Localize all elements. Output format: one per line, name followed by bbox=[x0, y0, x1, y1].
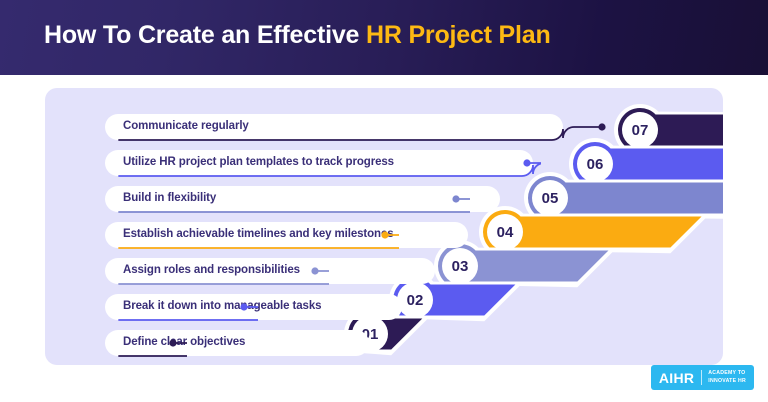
connector-dot bbox=[169, 339, 176, 346]
logo-wordmark: AIHR bbox=[659, 371, 701, 385]
page-title: How To Create an Effective HR Project Pl… bbox=[44, 21, 551, 50]
step-connector bbox=[105, 186, 470, 220]
step-row: Communicate regularly bbox=[105, 114, 723, 140]
logo-tagline-line1: ACADEMY TO bbox=[708, 370, 746, 377]
step-connector bbox=[105, 222, 399, 256]
connector-dot bbox=[452, 195, 459, 202]
page-title-accent: HR Project Plan bbox=[366, 21, 551, 49]
content-panel: 07060504030201 Communicate regularlyUtil… bbox=[45, 88, 723, 365]
step-row: Build in flexibility bbox=[105, 186, 723, 212]
step-connector bbox=[105, 330, 187, 364]
connector-dot bbox=[523, 159, 530, 166]
step-row: Break it down into manageable tasks bbox=[105, 294, 723, 320]
step-row: Define clear objectives bbox=[105, 330, 723, 356]
logo-tagline-line2: INNOVATE HR bbox=[708, 378, 746, 385]
connector-dot bbox=[240, 303, 247, 310]
step-row: Assign roles and responsibilities bbox=[105, 258, 723, 284]
aihr-logo: AIHR ACADEMY TO INNOVATE HR bbox=[651, 365, 754, 390]
logo-tagline: ACADEMY TO INNOVATE HR bbox=[702, 370, 746, 384]
step-connector bbox=[105, 294, 258, 328]
connector-dot bbox=[311, 267, 318, 274]
infographic-canvas: How To Create an Effective HR Project Pl… bbox=[0, 0, 768, 402]
header-banner: How To Create an Effective HR Project Pl… bbox=[0, 0, 768, 75]
connector-dot bbox=[598, 123, 605, 130]
step-connector bbox=[105, 258, 329, 292]
page-title-main: How To Create an Effective bbox=[44, 21, 366, 49]
step-connector bbox=[105, 114, 616, 148]
step-row: Utilize HR project plan templates to tra… bbox=[105, 150, 723, 176]
connector-dot bbox=[381, 231, 388, 238]
step-connector bbox=[105, 150, 541, 184]
step-row: Establish achievable timelines and key m… bbox=[105, 222, 723, 248]
